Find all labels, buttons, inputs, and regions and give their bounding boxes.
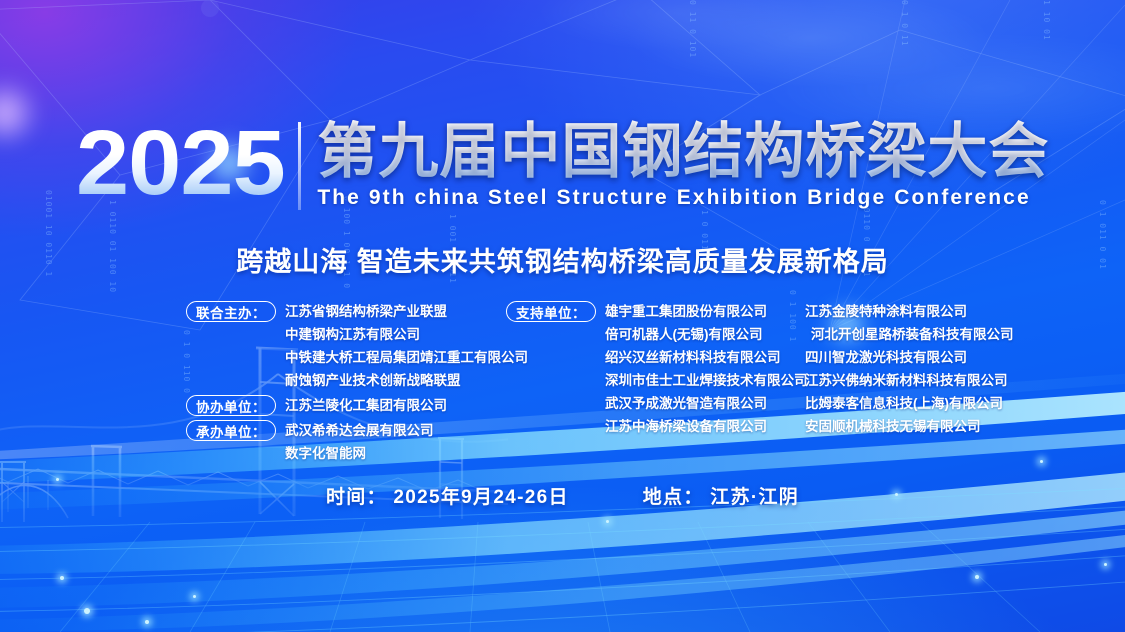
supporter-name: 武汉予成激光智造有限公司 <box>605 392 808 415</box>
organizer-label-pill: 联合主办： <box>186 301 276 322</box>
organizer-name: 中铁建大桥工程局集团靖江重工有限公司 <box>285 346 528 369</box>
supporter-name: 河北开创星路桥装备科技有限公司 <box>805 323 1105 346</box>
organizer-name-list: 江苏兰陵化工集团有限公司 <box>285 394 447 417</box>
organizers-column-right: 江苏金陵特种涂料有限公司 河北开创星路桥装备科技有限公司 四川智龙激光科技有限公… <box>805 300 1105 438</box>
organizer-group: 联合主办： 江苏省钢结构桥梁产业联盟 中建钢构江苏有限公司 中铁建大桥工程局集团… <box>186 300 516 392</box>
organizer-label-pill: 承办单位： <box>186 420 276 441</box>
supporter-name: 江苏中海桥梁设备有限公司 <box>605 415 808 438</box>
event-date: 时间： 2025年9月24-26日 <box>326 482 569 509</box>
supporter-name: 倍可机器人(无锡)有限公司 <box>605 323 808 346</box>
organizer-name: 耐蚀钢产业技术创新战略联盟 <box>285 369 528 392</box>
organizer-name: 数字化智能网 <box>285 442 434 465</box>
organizer-name-list: 武汉希希达会展有限公司 数字化智能网 <box>285 419 434 465</box>
organizer-group: 支持单位： 雄宇重工集团股份有限公司 倍可机器人(无锡)有限公司 绍兴汉丝新材料… <box>506 300 806 438</box>
title-block: 第九届中国钢结构桥梁大会 The 9th china Steel Structu… <box>317 120 1049 210</box>
supporter-name: 江苏金陵特种涂料有限公司 <box>805 300 1105 323</box>
supporter-name: 深圳市佳士工业焊接技术有限公司 <box>605 369 808 392</box>
supporter-name-list: 雄宇重工集团股份有限公司 倍可机器人(无锡)有限公司 绍兴汉丝新材料科技有限公司… <box>605 300 808 438</box>
sub-title-english: The 9th china Steel Structure Exhibition… <box>317 186 1049 210</box>
title-divider <box>298 122 301 210</box>
organizer-name: 中建钢构江苏有限公司 <box>285 323 528 346</box>
organizer-name: 江苏省钢结构桥梁产业联盟 <box>285 300 528 323</box>
footer-info: 时间： 2025年9月24-26日 地点： 江苏·江阴 <box>0 482 1125 509</box>
organizers-section: 联合主办： 江苏省钢结构桥梁产业联盟 中建钢构江苏有限公司 中铁建大桥工程局集团… <box>0 300 1125 450</box>
supporter-name: 江苏兴佛纳米新材料科技有限公司 <box>805 369 1105 392</box>
conference-banner: 01001 10 0110 1 1 0110 01 100 10 0 1 0 1… <box>0 0 1125 632</box>
organizer-name: 武汉希希达会展有限公司 <box>285 419 434 442</box>
supporter-name: 绍兴汉丝新材料科技有限公司 <box>605 346 808 369</box>
supporter-name: 雄宇重工集团股份有限公司 <box>605 300 808 323</box>
supporter-name: 四川智龙激光科技有限公司 <box>805 346 1105 369</box>
organizers-column-left: 联合主办： 江苏省钢结构桥梁产业联盟 中建钢构江苏有限公司 中铁建大桥工程局集团… <box>186 300 516 467</box>
title-row: 2025 第九届中国钢结构桥梁大会 The 9th china Steel St… <box>0 120 1125 210</box>
supporter-label-pill: 支持单位： <box>506 301 596 322</box>
organizer-label-pill: 协办单位： <box>186 395 276 416</box>
year-label: 2025 <box>76 120 293 206</box>
slogan: 跨越山海 智造未来共筑钢结构桥梁高质量发展新格局 <box>0 240 1125 279</box>
organizer-name-list: 江苏省钢结构桥梁产业联盟 中建钢构江苏有限公司 中铁建大桥工程局集团靖江重工有限… <box>285 300 528 392</box>
main-title: 第九届中国钢结构桥梁大会 <box>317 120 1049 184</box>
supporter-name: 安固顺机械科技无锡有限公司 <box>805 415 1105 438</box>
supporter-name-list: 江苏金陵特种涂料有限公司 河北开创星路桥装备科技有限公司 四川智龙激光科技有限公… <box>805 300 1105 438</box>
organizer-group: 承办单位： 武汉希希达会展有限公司 数字化智能网 <box>186 419 516 465</box>
supporter-name: 比姆泰客信息科技(上海)有限公司 <box>805 392 1105 415</box>
organizer-name: 江苏兰陵化工集团有限公司 <box>285 394 447 417</box>
organizer-group: 协办单位： 江苏兰陵化工集团有限公司 <box>186 394 516 417</box>
organizers-column-middle: 支持单位： 雄宇重工集团股份有限公司 倍可机器人(无锡)有限公司 绍兴汉丝新材料… <box>506 300 806 440</box>
event-location: 地点： 江苏·江阴 <box>643 482 799 509</box>
